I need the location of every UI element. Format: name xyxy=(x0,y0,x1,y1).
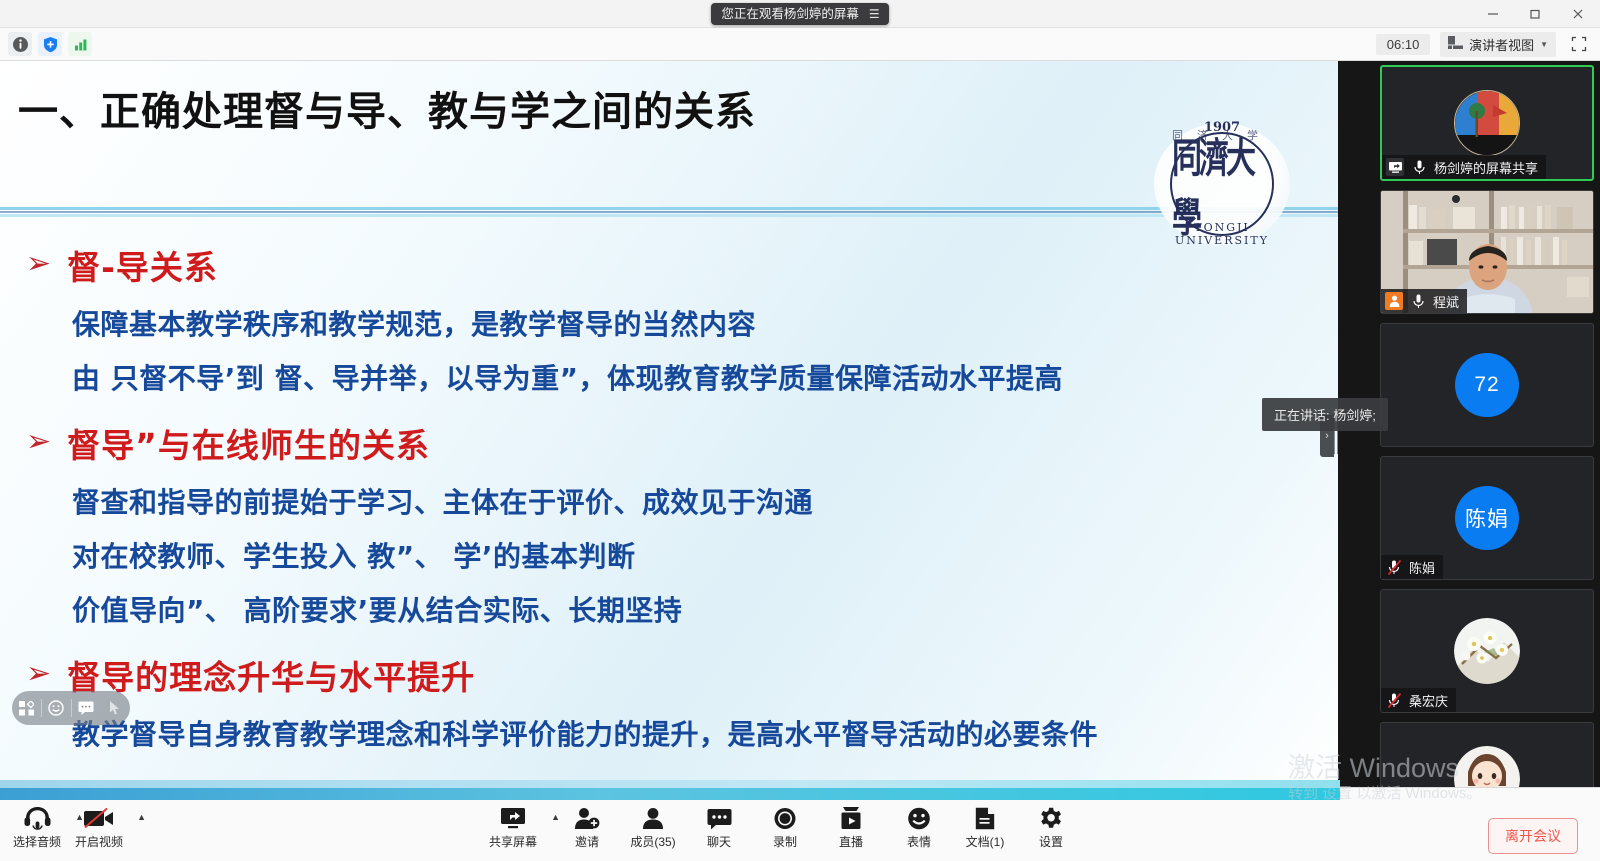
info-icon[interactable] xyxy=(8,32,32,56)
share-screen-icon xyxy=(1386,158,1404,176)
arrow-bullet-icon: ➢ xyxy=(26,427,51,457)
mic-on-icon xyxy=(1409,292,1427,310)
slide-line: 教学督导自身教育教学理念和科学评价能力的提升，是高水平督导活动的必要条件 xyxy=(0,713,1338,753)
tile-media: 桑宏庆 xyxy=(1381,590,1593,712)
person-icon xyxy=(1385,292,1403,310)
view-mode-selector[interactable]: 演讲者视图 ▼ xyxy=(1440,32,1556,57)
document-label: 文档(1) xyxy=(966,833,1005,850)
leave-meeting-button[interactable]: 离开会议 xyxy=(1488,818,1578,854)
mic-off-icon xyxy=(1385,691,1403,709)
slide-line: 保障基本教学秩序和教学规范，是教学督导的当然内容 xyxy=(0,303,1338,343)
slide-line: 督查和指导的前提始于学习、主体在于评价、成效见于沟通 xyxy=(0,481,1338,521)
maximize-button[interactable] xyxy=(1514,0,1556,28)
share-screen-label: 共享屏幕 xyxy=(489,833,537,850)
tile-label: 桑宏庆 xyxy=(1381,688,1456,712)
live-broadcast-label: 直播 xyxy=(839,833,863,850)
security-shield-icon[interactable] xyxy=(38,32,62,56)
shapes-icon[interactable] xyxy=(12,691,41,725)
emoji-button[interactable]: 表情 xyxy=(882,804,956,850)
slide-bottom-accent-light xyxy=(0,780,1340,788)
audio-control-label: 选择音频 xyxy=(13,833,61,850)
record-button[interactable]: 录制 xyxy=(748,804,822,850)
participant-name: 杨剑婷的屏幕共享 xyxy=(1434,158,1538,177)
arrow-bullet-icon: ➢ xyxy=(26,249,51,279)
document-icon xyxy=(975,804,995,830)
fullscreen-icon[interactable] xyxy=(1566,33,1592,55)
invite-label: 邀请 xyxy=(575,833,599,850)
gear-icon xyxy=(1039,804,1063,830)
tile-label: 杨剑婷的屏幕共享 xyxy=(1382,155,1546,179)
slide-bullet-heading: ➢ 督导的理念升华与水平提升 xyxy=(0,651,1338,699)
slide-bullet-heading: ➢ 督导”与在线师生的关系 xyxy=(0,419,1338,467)
network-bars-icon[interactable] xyxy=(68,32,92,56)
settings-button[interactable]: 设置 xyxy=(1014,804,1088,850)
live-broadcast-button[interactable]: 直播 xyxy=(814,804,888,850)
title-bar: 您正在观看杨剑婷的屏幕 ☰ xyxy=(0,0,1600,28)
slide-bottom-accent xyxy=(0,788,1340,800)
mic-off-icon xyxy=(1385,558,1403,576)
record-circle-icon xyxy=(773,804,797,830)
tile-media: 72 xyxy=(1381,324,1593,446)
mic-on-icon xyxy=(1410,158,1428,176)
sharing-notice-pill[interactable]: 您正在观看杨剑婷的屏幕 ☰ xyxy=(711,3,888,25)
toolbar-left-icons xyxy=(0,32,92,56)
tile-label: 程斌 xyxy=(1381,289,1467,313)
slide-title-divider xyxy=(0,207,1338,217)
live-broadcast-icon xyxy=(840,804,862,830)
participant-tile-initials[interactable]: 陈娟 陈娟 xyxy=(1380,456,1594,580)
share-screen-button[interactable]: 共享屏幕 ▲ xyxy=(476,804,550,850)
invite-person-icon xyxy=(574,804,600,830)
emoji-icon[interactable] xyxy=(42,691,71,725)
view-mode-icon xyxy=(1448,36,1463,52)
meeting-timer: 06:10 xyxy=(1376,34,1430,55)
chat-label: 聊天 xyxy=(707,833,731,850)
emoji-smile-icon xyxy=(907,804,931,830)
participants-icon xyxy=(641,804,665,830)
window-controls xyxy=(1472,0,1600,28)
tile-media: ▾ xyxy=(1381,723,1593,787)
document-button[interactable]: 文档(1) xyxy=(948,804,1022,850)
participant-name: 陈娟 xyxy=(1409,558,1435,577)
tile-media: 陈娟 陈娟 xyxy=(1381,457,1593,579)
avatar xyxy=(1454,618,1520,684)
record-label: 录制 xyxy=(773,833,797,850)
sharing-menu-icon[interactable]: ☰ xyxy=(869,3,879,25)
headset-icon xyxy=(24,804,51,830)
invite-button[interactable]: 邀请 xyxy=(550,804,624,850)
meeting-control-bar: 选择音频 ▲ 开启视频 ▲ xyxy=(0,787,1600,861)
avatar xyxy=(1454,746,1520,787)
video-control-label: 开启视频 xyxy=(75,833,123,850)
tile-media: 程斌 xyxy=(1381,191,1593,313)
slide-bullet-heading: ➢ 督-导关系 xyxy=(0,241,1338,289)
view-mode-label: 演讲者视图 xyxy=(1469,35,1534,54)
close-button[interactable] xyxy=(1556,0,1600,28)
tile-media: 杨剑婷的屏幕共享 xyxy=(1382,67,1592,179)
shared-screen-stage[interactable]: 一、正确处理督与导、教与学之间的关系 1907 同濟大學 同济大学 TONGJI… xyxy=(0,61,1338,787)
slide-body: ➢ 督-导关系 保障基本教学秩序和教学规范，是教学督导的当然内容 由 只督不导’… xyxy=(0,241,1338,753)
sharing-notice-text: 您正在观看杨剑婷的屏幕 xyxy=(721,3,859,25)
logo-chinese-text: 同济大学 xyxy=(1146,127,1298,143)
participant-tile-initials[interactable]: 72 xyxy=(1380,323,1594,447)
arrow-bullet-icon: ➢ xyxy=(26,659,51,689)
avatar xyxy=(1454,90,1520,156)
tongji-university-logo: 1907 同濟大學 同济大学 TONGJI UNIVERSITY xyxy=(1146,123,1298,245)
meeting-window: 您正在观看杨剑婷的屏幕 ☰ xyxy=(0,0,1600,861)
settings-label: 设置 xyxy=(1039,833,1063,850)
section-heading: 督-导关系 xyxy=(67,241,218,289)
participant-tile-screenshare[interactable]: 杨剑婷的屏幕共享 xyxy=(1380,65,1594,181)
slide-line: 由 只督不导’到 督、导并举，以导为重”，体现教育教学质量保障活动水平提高 xyxy=(0,357,1338,397)
participant-tile-video[interactable]: 程斌 xyxy=(1380,190,1594,314)
participant-tile-photo[interactable]: ▾ xyxy=(1380,722,1594,787)
participants-button[interactable]: 成员(35) xyxy=(616,804,690,850)
tile-label: 陈娟 xyxy=(1381,555,1443,579)
video-options-caret-icon[interactable]: ▲ xyxy=(137,812,146,822)
top-toolbar: 06:10 演讲者视图 ▼ xyxy=(0,28,1600,61)
section-heading: 督导”与在线师生的关系 xyxy=(67,419,430,467)
chevron-down-icon[interactable]: ▼ xyxy=(1540,40,1548,49)
toolbar-right-controls: 06:10 演讲者视图 ▼ xyxy=(1376,32,1600,57)
pointer-icon[interactable] xyxy=(101,691,130,725)
participant-tile-photo[interactable]: 桑宏庆 xyxy=(1380,589,1594,713)
slide-line: 对在校教师、学生投入 教”、 学’的基本判断 xyxy=(0,535,1338,575)
chat-icon[interactable] xyxy=(72,691,101,725)
slide-title: 一、正确处理督与导、教与学之间的关系 xyxy=(18,79,756,137)
share-screen-icon xyxy=(500,804,526,830)
participants-label: 成员(35) xyxy=(630,833,675,850)
slide-line: 价值导向”、 高阶要求’要从结合实际、长期坚持 xyxy=(0,589,1338,629)
speaking-tooltip: 正在讲话: 杨剑婷; xyxy=(1262,398,1388,431)
chat-bubble-icon xyxy=(707,804,732,830)
minimize-button[interactable] xyxy=(1472,0,1514,28)
video-control[interactable]: 开启视频 ▲ xyxy=(62,804,136,850)
emoji-label: 表情 xyxy=(907,833,931,850)
avatar: 陈娟 xyxy=(1455,486,1519,550)
participant-name: 桑宏庆 xyxy=(1409,691,1448,710)
participant-name: 程斌 xyxy=(1433,292,1459,311)
annotation-toolbar[interactable] xyxy=(12,691,130,725)
chat-button[interactable]: 聊天 xyxy=(682,804,756,850)
avatar: 72 xyxy=(1455,353,1519,417)
camera-off-icon xyxy=(83,804,115,830)
